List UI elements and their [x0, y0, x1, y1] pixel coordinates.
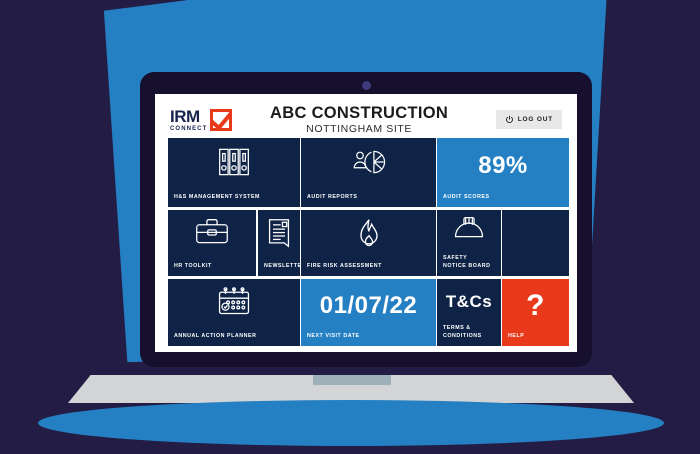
- audit-score-value: 89%: [437, 138, 569, 193]
- laptop-screen-bezel: IRM CONNECT ABC CONSTRUCTION NOTTINGHAM …: [140, 72, 592, 367]
- tile-hs-management-system[interactable]: H&S MANAGEMENT SYSTEM: [168, 138, 300, 207]
- logo-tagline: CONNECT: [170, 126, 207, 132]
- help-value: ?: [502, 279, 569, 332]
- tile-label-line2: NOTICE BOARD: [443, 263, 491, 269]
- tile-label: NEXT VISIT DATE: [307, 333, 360, 341]
- tile-label: ANNUAL ACTION PLANNER: [174, 333, 256, 341]
- tile-label: SAFETY NOTICE BOARD: [443, 255, 491, 271]
- hard-hat-icon: [437, 216, 501, 242]
- log-out-button[interactable]: LOG OUT: [496, 110, 562, 129]
- tile-safety-notice-board[interactable]: SAFETY NOTICE BOARD: [437, 210, 501, 276]
- tile-audit-reports[interactable]: AUDIT REPORTS: [301, 138, 436, 207]
- webcam-icon: [362, 81, 371, 90]
- laptop-illustration: IRM CONNECT ABC CONSTRUCTION NOTTINGHAM …: [0, 0, 700, 454]
- tile-label-line1: SAFETY: [443, 255, 467, 261]
- tile-hr-toolkit[interactable]: HR TOOLKIT: [168, 210, 256, 276]
- tile-label-line2: CONDITIONS: [443, 333, 482, 339]
- binders-icon: [168, 146, 300, 178]
- tcs-value: T&Cs: [437, 279, 501, 324]
- briefcase-icon: [168, 218, 256, 246]
- laptop-trackpad-notch: [313, 375, 391, 385]
- app-header: IRM CONNECT ABC CONSTRUCTION NOTTINGHAM …: [168, 104, 564, 135]
- tile-label: NEWSLETTERS: [264, 263, 300, 271]
- page-title-block: ABC CONSTRUCTION NOTTINGHAM SITE: [222, 104, 495, 135]
- calendar-icon: [168, 287, 300, 317]
- tile-label: HELP: [508, 333, 524, 341]
- dashboard-app: IRM CONNECT ABC CONSTRUCTION NOTTINGHAM …: [155, 94, 577, 352]
- tile-label: H&S MANAGEMENT SYSTEM: [174, 194, 260, 202]
- laptop-screen: IRM CONNECT ABC CONSTRUCTION NOTTINGHAM …: [155, 94, 577, 352]
- tile-annual-action-planner[interactable]: ANNUAL ACTION PLANNER: [168, 279, 300, 346]
- dashboard-tile-grid: H&S MANAGEMENT SYSTEM: [168, 138, 564, 346]
- tile-label: FIRE RISK ASSESSMENT: [307, 263, 382, 271]
- newspaper-icon: [258, 218, 300, 248]
- checkmark-box-icon: [210, 109, 232, 131]
- laptop-shadow-ellipse: [38, 400, 664, 446]
- logo-wordmark: IRM CONNECT: [170, 108, 207, 132]
- tile-audit-scores[interactable]: 89% AUDIT SCORES: [437, 138, 569, 207]
- flame-icon: [301, 218, 436, 250]
- page-subtitle: NOTTINGHAM SITE: [222, 123, 495, 135]
- tile-label: AUDIT SCORES: [443, 194, 490, 202]
- tile-newsletters[interactable]: NEWSLETTERS: [258, 210, 300, 276]
- tile-label: AUDIT REPORTS: [307, 194, 357, 202]
- logo-name: IRM: [170, 108, 207, 125]
- log-out-label: LOG OUT: [518, 116, 553, 123]
- irm-connect-logo: IRM CONNECT: [170, 108, 232, 132]
- tile-label: HR TOOLKIT: [174, 263, 212, 271]
- power-icon: [505, 115, 514, 124]
- tile-fire-risk-assessment[interactable]: FIRE RISK ASSESSMENT: [301, 210, 436, 276]
- page-title: ABC CONSTRUCTION: [222, 104, 495, 122]
- next-visit-date-value: 01/07/22: [301, 279, 436, 332]
- tile-terms-and-conditions[interactable]: T&Cs TERMS & CONDITIONS: [437, 279, 501, 346]
- tile-help[interactable]: ? HELP: [502, 279, 569, 346]
- tile-blank-placeholder: [502, 210, 569, 276]
- person-pie-chart-icon: [301, 146, 436, 178]
- tile-label-line1: TERMS &: [443, 325, 471, 331]
- tile-label: TERMS & CONDITIONS: [443, 325, 482, 341]
- tile-next-visit-date[interactable]: 01/07/22 NEXT VISIT DATE: [301, 279, 436, 346]
